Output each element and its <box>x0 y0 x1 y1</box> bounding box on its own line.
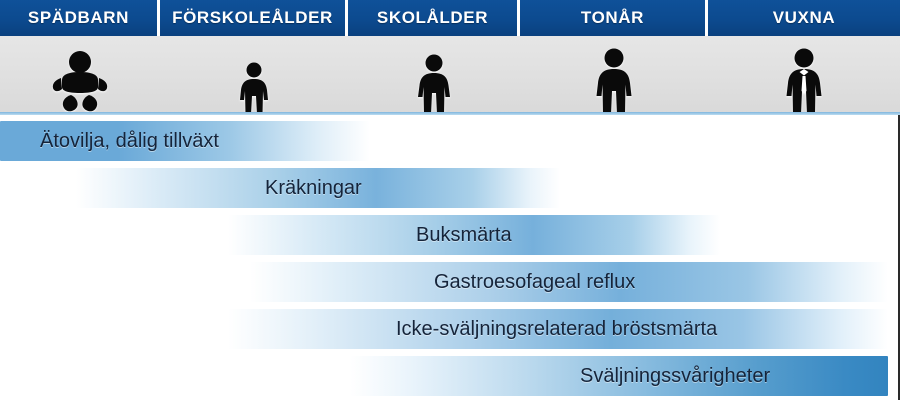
age-group-label: SPÄDBARN <box>28 8 129 28</box>
symptom-label: Gastroesofageal reflux <box>434 262 635 302</box>
symptom-label: Sväljningssvårigheter <box>580 356 770 396</box>
symptom-row-gastroesofageal-reflux[interactable]: Gastroesofageal reflux <box>0 262 900 302</box>
symptom-row-atovilja[interactable]: Ätovilja, dålig tillväxt <box>0 121 900 161</box>
age-group-cell-spadbarn[interactable]: SPÄDBARN <box>0 0 160 36</box>
age-figure-band <box>0 36 900 114</box>
icon-cell-vuxna <box>708 36 900 114</box>
child-figure-icon <box>414 54 454 114</box>
infant-icon <box>49 50 111 114</box>
icon-cell-forskolealder <box>160 36 348 114</box>
symptom-label: Kräkningar <box>265 168 362 208</box>
age-group-label: TONÅR <box>581 8 644 28</box>
symptom-row-krakningar[interactable]: Kräkningar <box>0 168 900 208</box>
age-group-label: SKOLÅLDER <box>377 8 488 28</box>
adult-suit-figure-icon <box>782 48 826 114</box>
age-group-label: FÖRSKOLEÅLDER <box>172 8 333 28</box>
age-group-cell-tonar[interactable]: TONÅR <box>520 0 708 36</box>
symptom-label: Ätovilja, dålig tillväxt <box>40 121 219 161</box>
age-group-cell-skolalder[interactable]: SKOLÅLDER <box>348 0 520 36</box>
age-group-header: SPÄDBARN FÖRSKOLEÅLDER SKOLÅLDER TONÅR V… <box>0 0 900 36</box>
icon-cell-skolalder <box>348 36 520 114</box>
teen-figure-icon <box>592 48 636 114</box>
age-group-cell-forskolealder[interactable]: FÖRSKOLEÅLDER <box>160 0 348 36</box>
age-group-cell-vuxna[interactable]: VUXNA <box>708 0 900 36</box>
symptom-label: Icke-sväljningsrelaterad bröstsmärta <box>396 309 717 349</box>
pediatric-symptom-age-chart: SPÄDBARN FÖRSKOLEÅLDER SKOLÅLDER TONÅR V… <box>0 0 900 400</box>
symptom-bars: Ätovilja, dålig tillväxt Kräkningar Buks… <box>0 115 900 400</box>
symptom-row-svaljningssvarigheter[interactable]: Sväljningssvårigheter <box>0 356 900 396</box>
icon-cell-tonar <box>520 36 708 114</box>
toddler-figure-icon <box>236 62 272 114</box>
age-group-label: VUXNA <box>773 8 836 28</box>
symptom-label: Buksmärta <box>416 215 512 255</box>
symptom-row-icke-svaljningsrelaterad-brostsmarta[interactable]: Icke-sväljningsrelaterad bröstsmärta <box>0 309 900 349</box>
symptom-row-buksmarta[interactable]: Buksmärta <box>0 215 900 255</box>
icon-cell-spadbarn <box>0 36 160 114</box>
